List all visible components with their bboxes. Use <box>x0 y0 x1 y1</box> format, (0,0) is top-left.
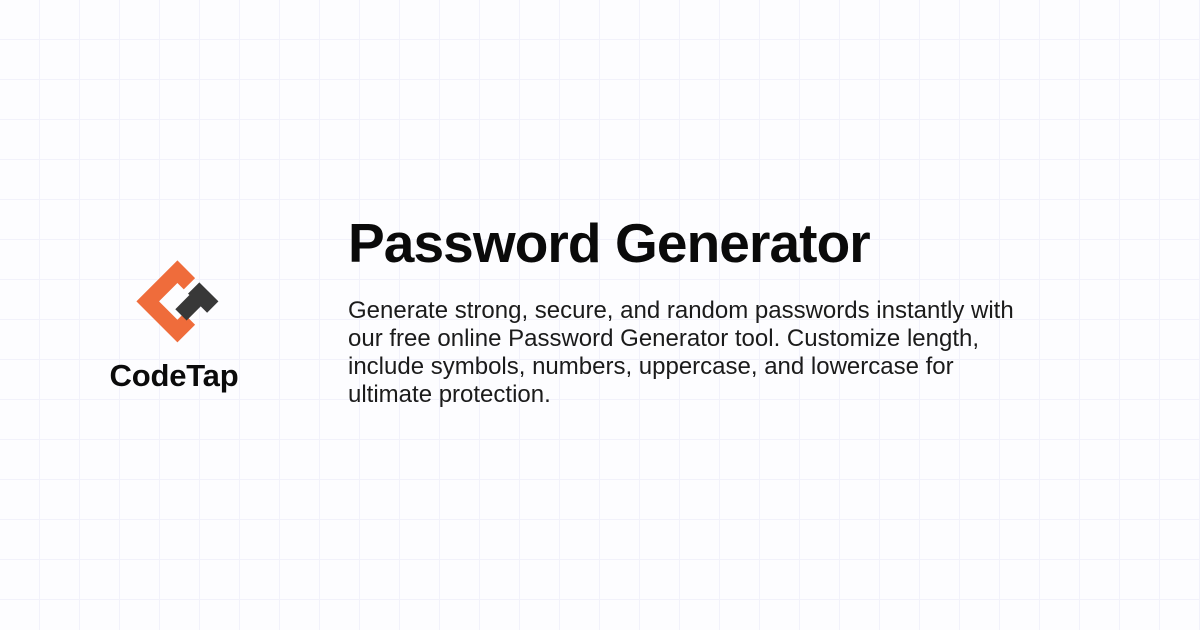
og-preview-card: CodeTap Password Generator Generate stro… <box>0 0 1200 630</box>
codetap-logo-icon <box>131 255 221 345</box>
copy-block: Password Generator Generate strong, secu… <box>348 215 1200 414</box>
page-title: Password Generator <box>348 215 1040 272</box>
page-description: Generate strong, secure, and random pass… <box>348 297 1023 409</box>
brand-block: CodeTap <box>0 237 348 393</box>
brand-name: CodeTap <box>110 359 239 393</box>
card-content: CodeTap Password Generator Generate stro… <box>0 0 1200 630</box>
